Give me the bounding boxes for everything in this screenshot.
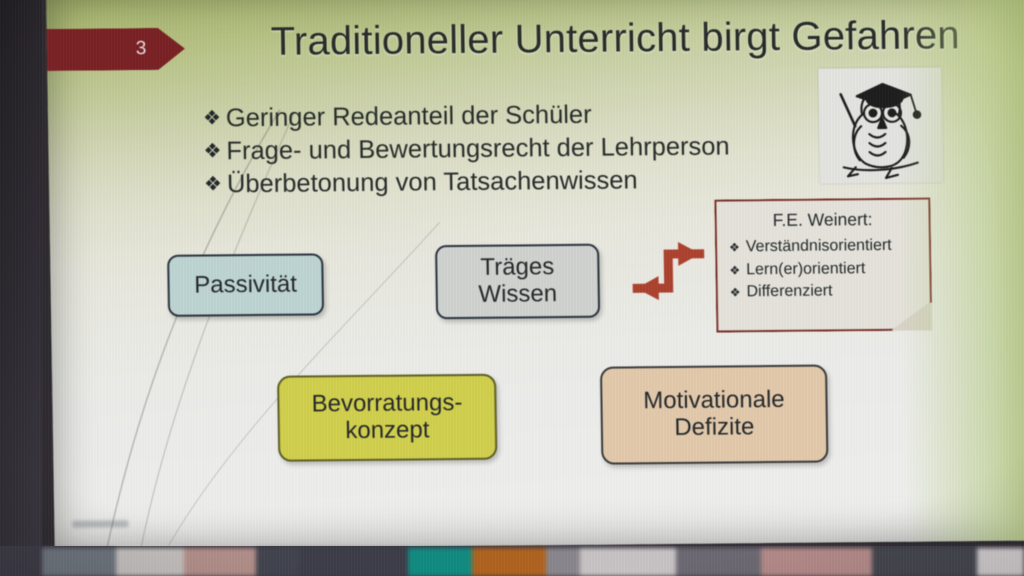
slide-number-value: 3	[136, 38, 147, 60]
video-thumbnail[interactable]	[116, 548, 184, 576]
video-call-thumbnail-strip[interactable]	[42, 548, 1024, 576]
concept-box-label-line1: Motivationale	[643, 386, 785, 414]
concept-box-label-line2: Defizite	[674, 413, 754, 441]
concept-box-passivitaet[interactable]: Passivität	[167, 253, 324, 316]
bullet-text: Frage- und Bewertungsrecht der Lehrperso…	[226, 131, 730, 169]
concept-box-traeges-wissen[interactable]: Träges Wissen	[435, 244, 600, 320]
note-item-text: Verständnisorientiert	[746, 235, 892, 259]
note-item: ❖ Differenziert	[730, 280, 893, 304]
video-thumbnail[interactable]	[256, 548, 299, 576]
concept-box-label-line1: Bevorratungs-	[311, 389, 462, 417]
photographed-projector-screen: 3 Traditioneller Unterricht birgt Gefahr…	[0, 0, 1024, 576]
concept-box-bevorratungskonzept[interactable]: Bevorratungs- konzept	[277, 374, 497, 462]
concept-box-label: Passivität	[194, 271, 297, 299]
presentation-slide: 3 Traditioneller Unterricht birgt Gefahr…	[46, 0, 1024, 550]
weinert-note-card: F.E. Weinert: ❖ Verständnisorientiert ❖ …	[714, 198, 932, 333]
bullet-text: Geringer Redeanteil der Schüler	[226, 99, 592, 136]
bullet-list: ❖ Geringer Redeanteil der Schüler ❖ Frag…	[203, 96, 845, 202]
diamond-bullet-icon: ❖	[203, 135, 221, 168]
slide-number-badge: 3	[46, 28, 185, 72]
owl-graduate-image	[818, 67, 943, 183]
video-thumbnail[interactable]	[580, 548, 676, 576]
slide-surface: 3 Traditioneller Unterricht birgt Gefahr…	[46, 0, 1024, 550]
note-list: ❖ Verständnisorientiert ❖ Lern(er)orient…	[729, 235, 893, 305]
note-item: ❖ Verständnisorientiert	[729, 235, 892, 259]
concept-box-label-line1: Träges	[480, 253, 554, 281]
concept-box-label: Träges Wissen	[478, 254, 558, 308]
screen-watermark-smudge	[72, 520, 128, 528]
video-thumbnail[interactable]	[42, 548, 116, 576]
concept-box-label-line2: Wissen	[478, 280, 557, 308]
diamond-bullet-icon: ❖	[729, 239, 740, 256]
diamond-bullet-icon: ❖	[730, 285, 741, 302]
video-thumbnail[interactable]	[872, 548, 977, 576]
concept-box-motivationale-defizite[interactable]: Motivationale Defizite	[600, 365, 829, 465]
diamond-bullet-icon: ❖	[203, 102, 221, 135]
note-item-text: Lern(er)orientiert	[746, 258, 866, 282]
owl-with-graduation-cap-icon	[818, 67, 943, 183]
video-thumbnail[interactable]	[676, 548, 762, 576]
video-thumbnail[interactable]	[546, 548, 579, 576]
diamond-bullet-icon: ❖	[729, 262, 740, 279]
video-thumbnail[interactable]	[299, 548, 408, 576]
video-thumbnail[interactable]	[184, 548, 256, 576]
note-title: F.E. Weinert:	[714, 209, 930, 232]
note-item-text: Differenziert	[746, 281, 832, 305]
concept-box-label: Motivationale Defizite	[643, 387, 785, 442]
bullet-text: Überbetonung von Tatsachenwissen	[227, 165, 638, 202]
concept-box-label-line2: konzept	[345, 416, 429, 444]
double-headed-stepped-arrow-icon	[610, 225, 727, 318]
video-thumbnail[interactable]	[977, 548, 1024, 576]
video-thumbnail[interactable]	[472, 548, 547, 576]
concept-box-label: Bevorratungs- konzept	[311, 390, 463, 445]
video-thumbnail[interactable]	[408, 548, 471, 576]
diamond-bullet-icon: ❖	[204, 169, 222, 202]
bullet-item: ❖ Überbetonung von Tatsachenwissen	[204, 163, 845, 202]
video-thumbnail[interactable]	[761, 548, 871, 576]
slide-title: Traditioneller Unterricht birgt Gefahren	[270, 13, 1011, 65]
note-item: ❖ Lern(er)orientiert	[729, 258, 892, 282]
